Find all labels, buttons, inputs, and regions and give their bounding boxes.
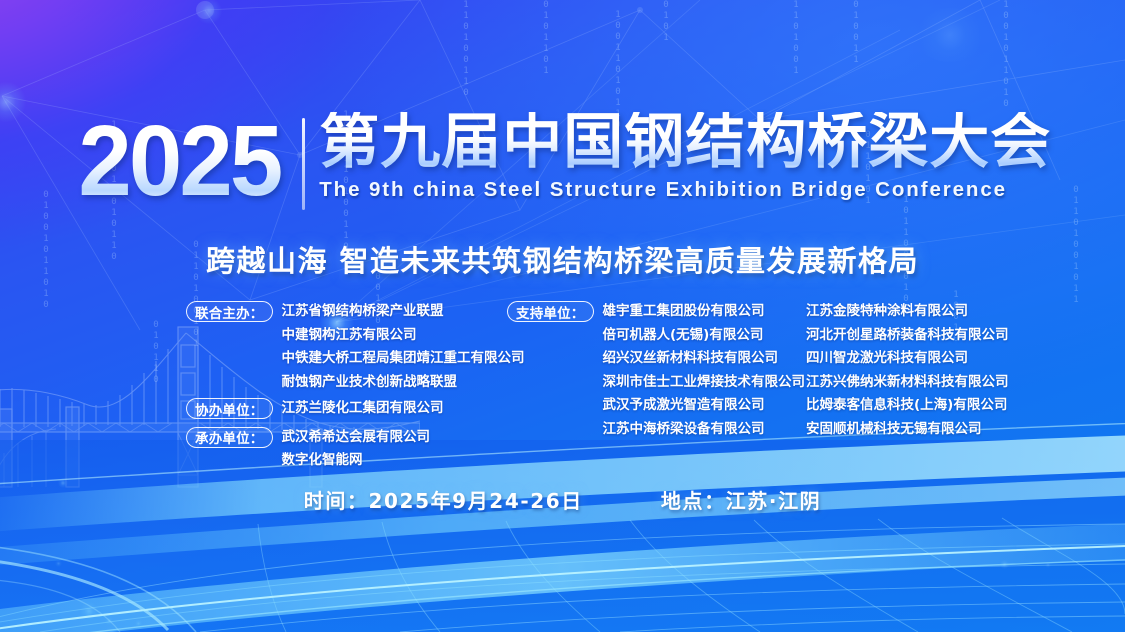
co-host-names: 江苏省钢结构桥梁产业联盟 中建钢构江苏有限公司 中铁建大桥工程局集团靖江重工有限… [282, 300, 525, 394]
list-item: 倍可机器人(无锡)有限公司 [603, 324, 806, 348]
supporters-extra-group: 江苏金陵特种涂料有限公司 河北开创星路桥装备科技有限公司 四川智龙激光科技有限公… [806, 300, 1026, 441]
event-location: 地点：江苏·江阴 [661, 485, 821, 514]
co-organizer-row: 协办单位： 江苏兰陵化工集团有限公司 [186, 397, 506, 421]
event-time: 时间：2025年9月24-26日 [304, 485, 583, 514]
list-item: 江苏金陵特种涂料有限公司 [806, 300, 1026, 324]
banner-content: 2025 第九届中国钢结构桥梁大会 The 9th china Steel St… [0, 0, 1125, 632]
list-item: 比姆泰客信息科技(上海)有限公司 [806, 394, 1026, 418]
title-divider [302, 118, 305, 210]
list-item: 江苏兰陵化工集团有限公司 [282, 397, 444, 421]
list-item: 河北开创星路桥装备科技有限公司 [806, 324, 1026, 348]
list-item: 武汉希希达会展有限公司 [282, 426, 431, 450]
list-item: 耐蚀钢产业技术创新战略联盟 [282, 371, 525, 395]
list-item: 中建钢构江苏有限公司 [282, 324, 525, 348]
list-item: 江苏省钢结构桥梁产业联盟 [282, 300, 525, 324]
year-text: 2025 [78, 112, 286, 210]
supporters-group: 支持单位： 雄宇重工集团股份有限公司 倍可机器人(无锡)有限公司 绍兴汉丝新材料… [507, 300, 807, 441]
list-item: 江苏兴佛纳米新材料科技有限公司 [806, 371, 1026, 395]
title-row: 2025 第九届中国钢结构桥梁大会 The 9th china Steel St… [0, 112, 1125, 210]
co-host-group: 联合主办： 江苏省钢结构桥梁产业联盟 中建钢构江苏有限公司 中铁建大桥工程局集团… [186, 300, 506, 394]
title-block: 第九届中国钢结构桥梁大会 The 9th china Steel Structu… [319, 112, 1051, 202]
co-organizer-label: 协办单位： [186, 398, 273, 419]
list-item: 深圳市佳士工业焊接技术有限公司 [603, 371, 806, 395]
co-host-label: 联合主办： [186, 301, 273, 322]
organizers-section: 联合主办： 江苏省钢结构桥梁产业联盟 中建钢构江苏有限公司 中铁建大桥工程局集团… [0, 300, 1125, 450]
list-item: 四川智龙激光科技有限公司 [806, 347, 1026, 371]
supporters-extra-names: 江苏金陵特种涂料有限公司 河北开创星路桥装备科技有限公司 四川智龙激光科技有限公… [806, 300, 1026, 441]
list-item: 中铁建大桥工程局集团靖江重工有限公司 [282, 347, 525, 371]
supporters-names: 雄宇重工集团股份有限公司 倍可机器人(无锡)有限公司 绍兴汉丝新材料科技有限公司… [603, 300, 806, 441]
undertaker-row: 承办单位： 武汉希希达会展有限公司 数字化智能网 [186, 426, 506, 473]
conference-title-cn: 第九届中国钢结构桥梁大会 [319, 112, 1051, 174]
list-item: 数字化智能网 [282, 449, 431, 473]
list-item: 绍兴汉丝新材料科技有限公司 [603, 347, 806, 371]
co-organizer-undertaker-group: 协办单位： 江苏兰陵化工集团有限公司 承办单位： 武汉希希达会展有限公司 数字化… [186, 397, 506, 473]
event-info-row: 时间：2025年9月24-26日 地点：江苏·江阴 [0, 485, 1125, 514]
undertaker-names: 武汉希希达会展有限公司 数字化智能网 [282, 426, 431, 473]
list-item: 雄宇重工集团股份有限公司 [603, 300, 806, 324]
supporters-label: 支持单位： [507, 301, 594, 322]
list-item: 安固顺机械科技无锡有限公司 [806, 418, 1026, 442]
conference-banner: 01001011010 1010011010110 010110 0110100… [0, 0, 1125, 632]
co-organizer-names: 江苏兰陵化工集团有限公司 [282, 397, 444, 421]
conference-slogan: 跨越山海 智造未来共筑钢结构桥梁高质量发展新格局 [0, 238, 1125, 280]
list-item: 武汉予成激光智造有限公司 [603, 394, 806, 418]
undertaker-label: 承办单位： [186, 427, 273, 448]
list-item: 江苏中海桥梁设备有限公司 [603, 418, 806, 442]
conference-title-en: The 9th china Steel Structure Exhibition… [319, 178, 1051, 202]
